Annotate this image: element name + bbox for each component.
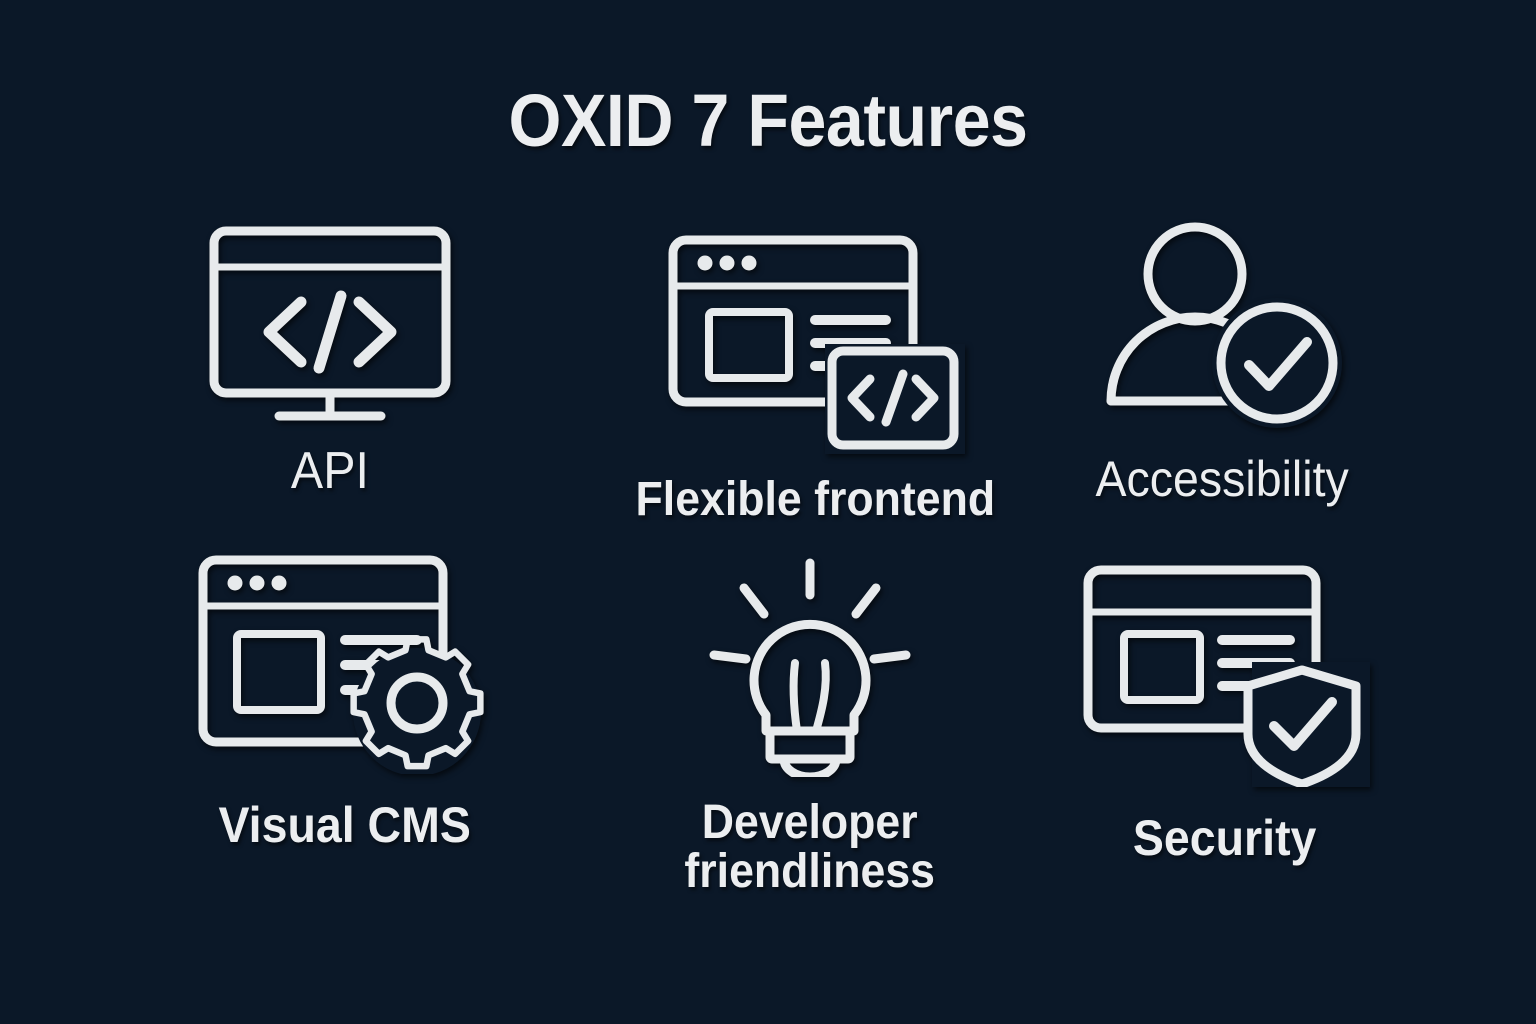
feature-card-flexible-frontend[interactable]: Flexible frontend: [615, 232, 1015, 525]
features-infographic: OXID 7 Features API: [0, 0, 1536, 1024]
feature-label-developer-friendliness: Developer friendliness: [685, 799, 936, 897]
feature-card-accessibility[interactable]: Accessibility: [1022, 218, 1422, 505]
browser-window-shield-check-icon: [1080, 562, 1370, 787]
feature-card-api[interactable]: API: [130, 222, 530, 498]
feature-label-api: API: [291, 445, 369, 498]
lightbulb-icon: [704, 555, 916, 777]
feature-label-security: Security: [1133, 813, 1317, 864]
feature-card-developer-friendliness[interactable]: Developer friendliness: [610, 555, 1010, 897]
feature-label-flexible-frontend: Flexible frontend: [635, 476, 995, 525]
browser-window-code-icon: [665, 232, 965, 454]
monitor-code-icon: [205, 222, 455, 427]
feature-label-accessibility: Accessibility: [1095, 454, 1348, 505]
browser-window-gear-icon: [195, 552, 495, 774]
feature-label-visual-cms: Visual CMS: [219, 800, 471, 851]
feature-card-visual-cms[interactable]: Visual CMS: [145, 552, 545, 851]
page-title: OXID 7 Features: [61, 78, 1474, 163]
feature-card-security[interactable]: Security: [1025, 562, 1425, 864]
user-check-icon: [1097, 218, 1347, 430]
